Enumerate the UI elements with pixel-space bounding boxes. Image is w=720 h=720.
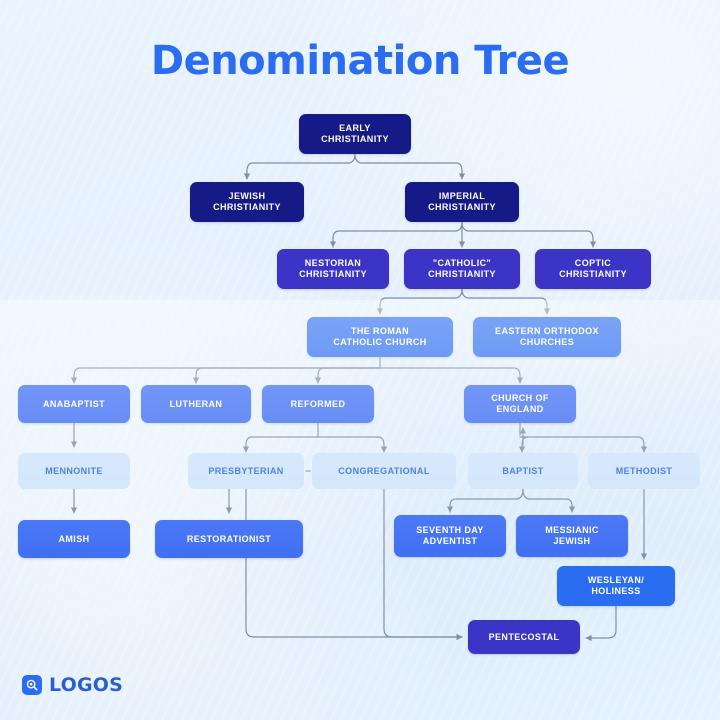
node-label: CONGREGATIONAL	[338, 466, 429, 477]
magnifier-icon	[22, 675, 42, 695]
link-bus-anabaptist	[74, 368, 380, 383]
link-imperial-nestorian	[333, 222, 462, 247]
node-label: IMPERIAL CHRISTIANITY	[428, 191, 496, 212]
node-roman[interactable]: THE ROMAN CATHOLIC CHURCH	[307, 317, 453, 357]
node-label: MESSIANIC JEWISH	[545, 525, 599, 546]
node-imperial[interactable]: IMPERIAL CHRISTIANITY	[405, 182, 519, 222]
node-wesleyan[interactable]: WESLEYAN/ HOLINESS	[557, 566, 675, 606]
node-early[interactable]: EARLY CHRISTIANITY	[299, 114, 411, 154]
node-label: EASTERN ORTHODOX CHURCHES	[495, 326, 599, 347]
node-lutheran[interactable]: LUTHERAN	[141, 385, 251, 423]
node-catholicq[interactable]: "CATHOLIC" CHRISTIANITY	[404, 249, 520, 289]
node-anabaptist[interactable]: ANABAPTIST	[18, 385, 130, 423]
node-label: NESTORIAN CHRISTIANITY	[299, 258, 367, 279]
link-early-imperial	[355, 154, 462, 179]
node-pentecostal[interactable]: PENTECOSTAL	[468, 620, 580, 654]
node-label: RESTORATIONIST	[187, 534, 271, 545]
connector-layer	[0, 0, 720, 720]
node-coptic[interactable]: COPTIC CHRISTIANITY	[535, 249, 651, 289]
node-label: REFORMED	[291, 399, 346, 410]
node-label: JEWISH CHRISTIANITY	[213, 191, 281, 212]
node-label: CHURCH OF ENGLAND	[491, 393, 549, 414]
node-label: BAPTIST	[502, 466, 543, 477]
node-label: SEVENTH DAY ADVENTIST	[416, 525, 484, 546]
link-bus-methodist	[520, 437, 644, 452]
node-label: MENNONITE	[45, 466, 103, 477]
node-label: THE ROMAN CATHOLIC CHURCH	[333, 326, 426, 347]
node-nestorian[interactable]: NESTORIAN CHRISTIANITY	[277, 249, 389, 289]
link-bus-presbyterian	[246, 437, 318, 452]
link-bus-reformed	[318, 368, 380, 383]
node-presbyterian[interactable]: PRESBYTERIAN	[188, 453, 304, 489]
node-england[interactable]: CHURCH OF ENGLAND	[464, 385, 576, 423]
node-label: COPTIC CHRISTIANITY	[559, 258, 627, 279]
node-congregational[interactable]: CONGREGATIONAL	[312, 453, 456, 489]
logos-wordmark: LOGOS	[49, 674, 123, 696]
node-restorationist[interactable]: RESTORATIONIST	[155, 520, 303, 558]
node-messianic[interactable]: MESSIANIC JEWISH	[516, 515, 628, 557]
node-sda[interactable]: SEVENTH DAY ADVENTIST	[394, 515, 506, 557]
node-label: ANABAPTIST	[43, 399, 105, 410]
link-bus-congregational	[318, 437, 384, 452]
link-bus-lutheran	[196, 368, 380, 383]
link-wesleyan-pentecostal	[586, 606, 616, 638]
link-catholic-orthodox	[462, 289, 547, 314]
node-label: METHODIST	[616, 466, 673, 477]
node-orthodox[interactable]: EASTERN ORTHODOX CHURCHES	[473, 317, 621, 357]
node-label: WESLEYAN/ HOLINESS	[588, 575, 644, 596]
link-bus-england	[380, 368, 520, 383]
link-baptist-sda	[450, 489, 523, 512]
node-mennonite[interactable]: MENNONITE	[18, 453, 130, 489]
node-methodist[interactable]: METHODIST	[588, 453, 700, 489]
node-label: AMISH	[59, 534, 90, 545]
logos-brand[interactable]: LOGOS	[22, 674, 123, 696]
node-label: PRESBYTERIAN	[208, 466, 283, 477]
link-presbyterian-pentecostal	[246, 489, 462, 637]
link-baptist-messianic	[523, 489, 572, 512]
node-label: PENTECOSTAL	[489, 632, 560, 643]
node-amish[interactable]: AMISH	[18, 520, 130, 558]
node-label: "CATHOLIC" CHRISTIANITY	[428, 258, 496, 279]
node-reformed[interactable]: REFORMED	[262, 385, 374, 423]
link-imperial-coptic	[462, 222, 593, 247]
node-baptist[interactable]: BAPTIST	[468, 453, 578, 489]
node-label: EARLY CHRISTIANITY	[321, 123, 389, 144]
link-catholic-roman	[380, 289, 462, 314]
link-early-jewish	[247, 154, 355, 179]
diagram-canvas: Denomination Tree	[0, 0, 720, 720]
node-label: LUTHERAN	[170, 399, 223, 410]
node-jewish[interactable]: JEWISH CHRISTIANITY	[190, 182, 304, 222]
